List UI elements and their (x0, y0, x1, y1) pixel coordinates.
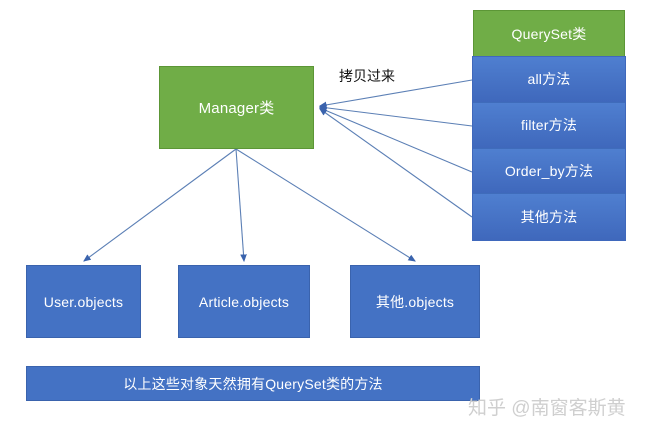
watermark-text: 知乎 @南窗客斯黄 (468, 393, 626, 420)
edge-manager-to-user (84, 149, 236, 261)
queryset-method-stack: all方法 filter方法 Order_by方法 其他方法 (473, 57, 625, 240)
queryset-method-other[interactable]: 其他方法 (473, 194, 625, 240)
summary-bar[interactable]: 以上这些对象天然拥有QuerySet类的方法 (26, 366, 480, 401)
queryset-method-filter[interactable]: filter方法 (473, 103, 625, 149)
object-node-user[interactable]: User.objects (26, 265, 141, 338)
edge-group-queryset-to-manager (320, 80, 472, 217)
edge-filter-to-manager (320, 107, 472, 126)
manager-class-node[interactable]: Manager类 (159, 66, 314, 149)
edge-manager-to-article (236, 149, 244, 261)
queryset-method-order-by[interactable]: Order_by方法 (473, 149, 625, 195)
object-node-other[interactable]: 其他.objects (350, 265, 480, 338)
edge-manager-to-other (236, 149, 415, 261)
diagram-canvas: Manager类 QuerySet类 all方法 filter方法 Order_… (0, 0, 649, 434)
object-node-article[interactable]: Article.objects (178, 265, 310, 338)
queryset-method-all[interactable]: all方法 (473, 57, 625, 103)
copy-annotation-label: 拷贝过来 (339, 66, 395, 86)
edge-group-manager-to-objects (84, 149, 415, 261)
edge-other-method-to-manager (320, 109, 472, 217)
queryset-class-header[interactable]: QuerySet类 (473, 10, 625, 57)
